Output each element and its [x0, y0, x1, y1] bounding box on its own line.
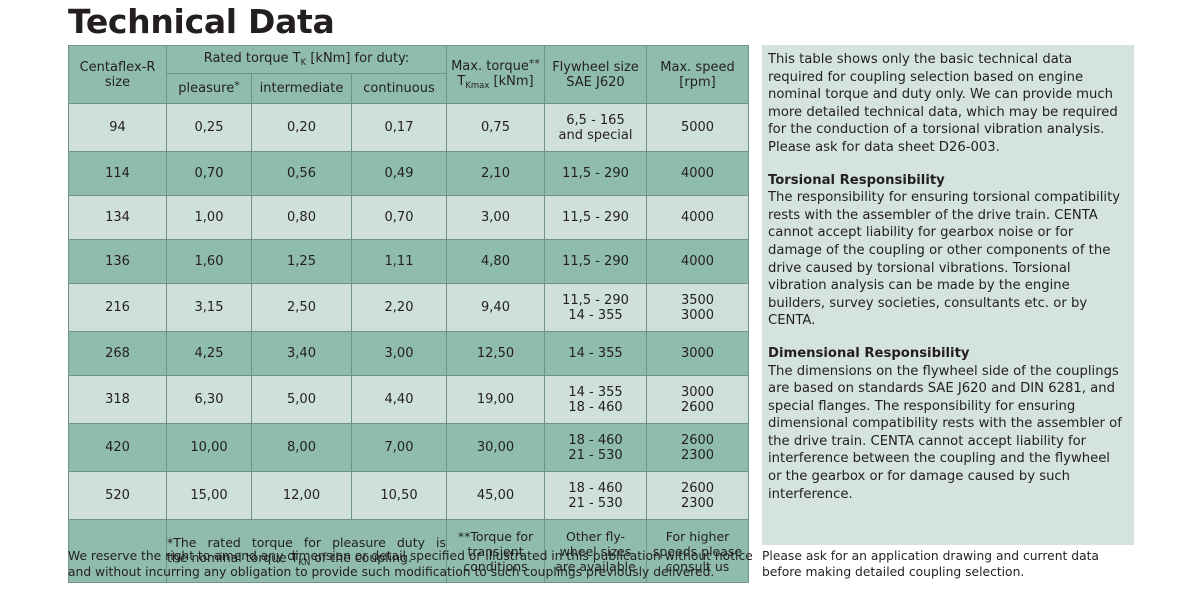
cell-pleasure: 0,70: [167, 152, 252, 196]
cell-continuous: 2,20: [352, 284, 447, 332]
info-intro-paragraph: This table shows only the basic technica…: [768, 51, 1126, 157]
table-row: 1140,700,560,492,1011,5 - 2904000: [69, 152, 749, 196]
cell-flywheel: 11,5 - 290: [545, 240, 647, 284]
cell-size: 520: [69, 472, 167, 520]
cell-flywheel: 11,5 - 29014 - 355: [545, 284, 647, 332]
header-size-line2: size: [69, 75, 166, 90]
info-torsional-title: Torsional Responsibility: [768, 172, 1126, 190]
cell-max-speed: 4000: [647, 196, 749, 240]
cell-size: 420: [69, 424, 167, 472]
cell-max-torque: 30,00: [447, 424, 545, 472]
footnote-rated-line1: *The rated torque for pleasure duty is: [167, 535, 446, 550]
header-tkmax-suffix: [kNm]: [489, 74, 533, 89]
cell-pleasure: 1,00: [167, 196, 252, 240]
header-tkmax-subscript: Kmax: [465, 81, 489, 91]
header-row-top: Centaflex-R size Rated torque TK [kNm] f…: [69, 46, 749, 74]
cell-size: 114: [69, 152, 167, 196]
cell-size: 94: [69, 104, 167, 152]
cell-max-torque: 19,00: [447, 376, 545, 424]
table-row: 1361,601,251,114,8011,5 - 2904000: [69, 240, 749, 284]
header-max-torque-line2: TKmax [kNm]: [447, 74, 544, 91]
cell-pleasure: 4,25: [167, 332, 252, 376]
header-cell-continuous: continuous: [352, 74, 447, 104]
header-cell-rated-torque-group: Rated torque TK [kNm] for duty:: [167, 46, 447, 74]
header-cell-max-speed: Max. speed [rpm]: [647, 46, 749, 104]
cell-intermediate: 12,00: [252, 472, 352, 520]
technical-data-table-wrapper: Centaflex-R size Rated torque TK [kNm] f…: [68, 45, 748, 583]
table-header: Centaflex-R size Rated torque TK [kNm] f…: [69, 46, 749, 104]
cell-max-torque: 9,40: [447, 284, 545, 332]
header-flywheel-line1: Flywheel size: [545, 60, 646, 75]
header-max-speed-line2: [rpm]: [647, 75, 748, 90]
cell-pleasure: 0,25: [167, 104, 252, 152]
cell-continuous: 7,00: [352, 424, 447, 472]
cell-continuous: 0,70: [352, 196, 447, 240]
cell-intermediate: 1,25: [252, 240, 352, 284]
header-max-torque-asterisk: **: [529, 57, 540, 70]
info-dimensional-title: Dimensional Responsibility: [768, 345, 1126, 363]
cell-continuous: 3,00: [352, 332, 447, 376]
cell-size: 318: [69, 376, 167, 424]
header-cell-pleasure: pleasure*: [167, 74, 252, 104]
header-cell-intermediate: intermediate: [252, 74, 352, 104]
cell-pleasure: 3,15: [167, 284, 252, 332]
table-row: 3186,305,004,4019,0014 - 35518 - 4603000…: [69, 376, 749, 424]
table-row: 940,250,200,170,756,5 - 165and special50…: [69, 104, 749, 152]
cell-intermediate: 0,56: [252, 152, 352, 196]
cell-flywheel: 18 - 46021 - 530: [545, 424, 647, 472]
table-row: 2163,152,502,209,4011,5 - 29014 - 355350…: [69, 284, 749, 332]
header-max-torque-text: Max. torque: [451, 59, 529, 74]
cell-pleasure: 1,60: [167, 240, 252, 284]
table-row: 42010,008,007,0030,0018 - 46021 - 530260…: [69, 424, 749, 472]
header-flywheel-line2: SAE J620: [545, 75, 646, 90]
cell-continuous: 0,17: [352, 104, 447, 152]
table-body: 940,250,200,170,756,5 - 165and special50…: [69, 104, 749, 520]
header-cell-flywheel-size: Flywheel size SAE J620: [545, 46, 647, 104]
header-max-torque-line1: Max. torque**: [447, 59, 544, 74]
info-panel: This table shows only the basic technica…: [762, 45, 1134, 545]
cell-flywheel: 14 - 355: [545, 332, 647, 376]
cell-pleasure: 15,00: [167, 472, 252, 520]
cell-max-speed: 26002300: [647, 472, 749, 520]
technical-data-page: Technical Data Centaflex-R size: [0, 0, 1188, 607]
header-rated-torque-subscript: K: [301, 58, 307, 68]
cell-max-torque: 0,75: [447, 104, 545, 152]
table-row: 2684,253,403,0012,5014 - 3553000: [69, 332, 749, 376]
page-title: Technical Data: [68, 2, 335, 42]
cell-max-torque: 12,50: [447, 332, 545, 376]
technical-data-table: Centaflex-R size Rated torque TK [kNm] f…: [68, 45, 749, 583]
table-row: 1341,000,800,703,0011,5 - 2904000: [69, 196, 749, 240]
header-max-speed-line1: Max. speed: [647, 60, 748, 75]
cell-max-speed: 35003000: [647, 284, 749, 332]
cell-continuous: 1,11: [352, 240, 447, 284]
header-pleasure-asterisk: *: [234, 79, 240, 92]
cell-intermediate: 5,00: [252, 376, 352, 424]
cell-max-torque: 45,00: [447, 472, 545, 520]
cell-flywheel: 14 - 35518 - 460: [545, 376, 647, 424]
header-cell-max-torque: Max. torque** TKmax [kNm]: [447, 46, 545, 104]
cell-intermediate: 0,80: [252, 196, 352, 240]
info-torsional-body: The responsibility for ensuring torsiona…: [768, 189, 1126, 330]
cell-continuous: 10,50: [352, 472, 447, 520]
cell-max-torque: 2,10: [447, 152, 545, 196]
cell-flywheel: 11,5 - 290: [545, 152, 647, 196]
cell-max-speed: 3000: [647, 332, 749, 376]
cell-flywheel: 6,5 - 165and special: [545, 104, 647, 152]
header-rated-torque-prefix: Rated torque T: [204, 51, 301, 66]
cell-flywheel: 11,5 - 290: [545, 196, 647, 240]
cell-max-speed: 30002600: [647, 376, 749, 424]
cell-flywheel: 18 - 46021 - 530: [545, 472, 647, 520]
cell-pleasure: 10,00: [167, 424, 252, 472]
info-dimensional-body: The dimensions on the flywheel side of t…: [768, 363, 1126, 504]
header-size-line1: Centaflex-R: [69, 60, 166, 75]
cell-intermediate: 8,00: [252, 424, 352, 472]
cell-max-speed: 4000: [647, 152, 749, 196]
cell-max-speed: 4000: [647, 240, 749, 284]
header-rated-torque-suffix: [kNm] for duty:: [306, 51, 409, 66]
cell-intermediate: 0,20: [252, 104, 352, 152]
cell-max-speed: 26002300: [647, 424, 749, 472]
table-row: 52015,0012,0010,5045,0018 - 46021 - 5302…: [69, 472, 749, 520]
cell-size: 134: [69, 196, 167, 240]
cell-max-torque: 4,80: [447, 240, 545, 284]
header-cell-size: Centaflex-R size: [69, 46, 167, 104]
cell-pleasure: 6,30: [167, 376, 252, 424]
cell-max-torque: 3,00: [447, 196, 545, 240]
disclaimer-right: Please ask for an application drawing an…: [762, 549, 1142, 580]
cell-intermediate: 3,40: [252, 332, 352, 376]
header-pleasure-text: pleasure: [178, 81, 234, 96]
cell-size: 268: [69, 332, 167, 376]
cell-continuous: 4,40: [352, 376, 447, 424]
disclaimer-left: We reserve the right to amend any dimens…: [68, 549, 758, 580]
cell-intermediate: 2,50: [252, 284, 352, 332]
cell-max-speed: 5000: [647, 104, 749, 152]
cell-size: 136: [69, 240, 167, 284]
cell-continuous: 0,49: [352, 152, 447, 196]
cell-size: 216: [69, 284, 167, 332]
